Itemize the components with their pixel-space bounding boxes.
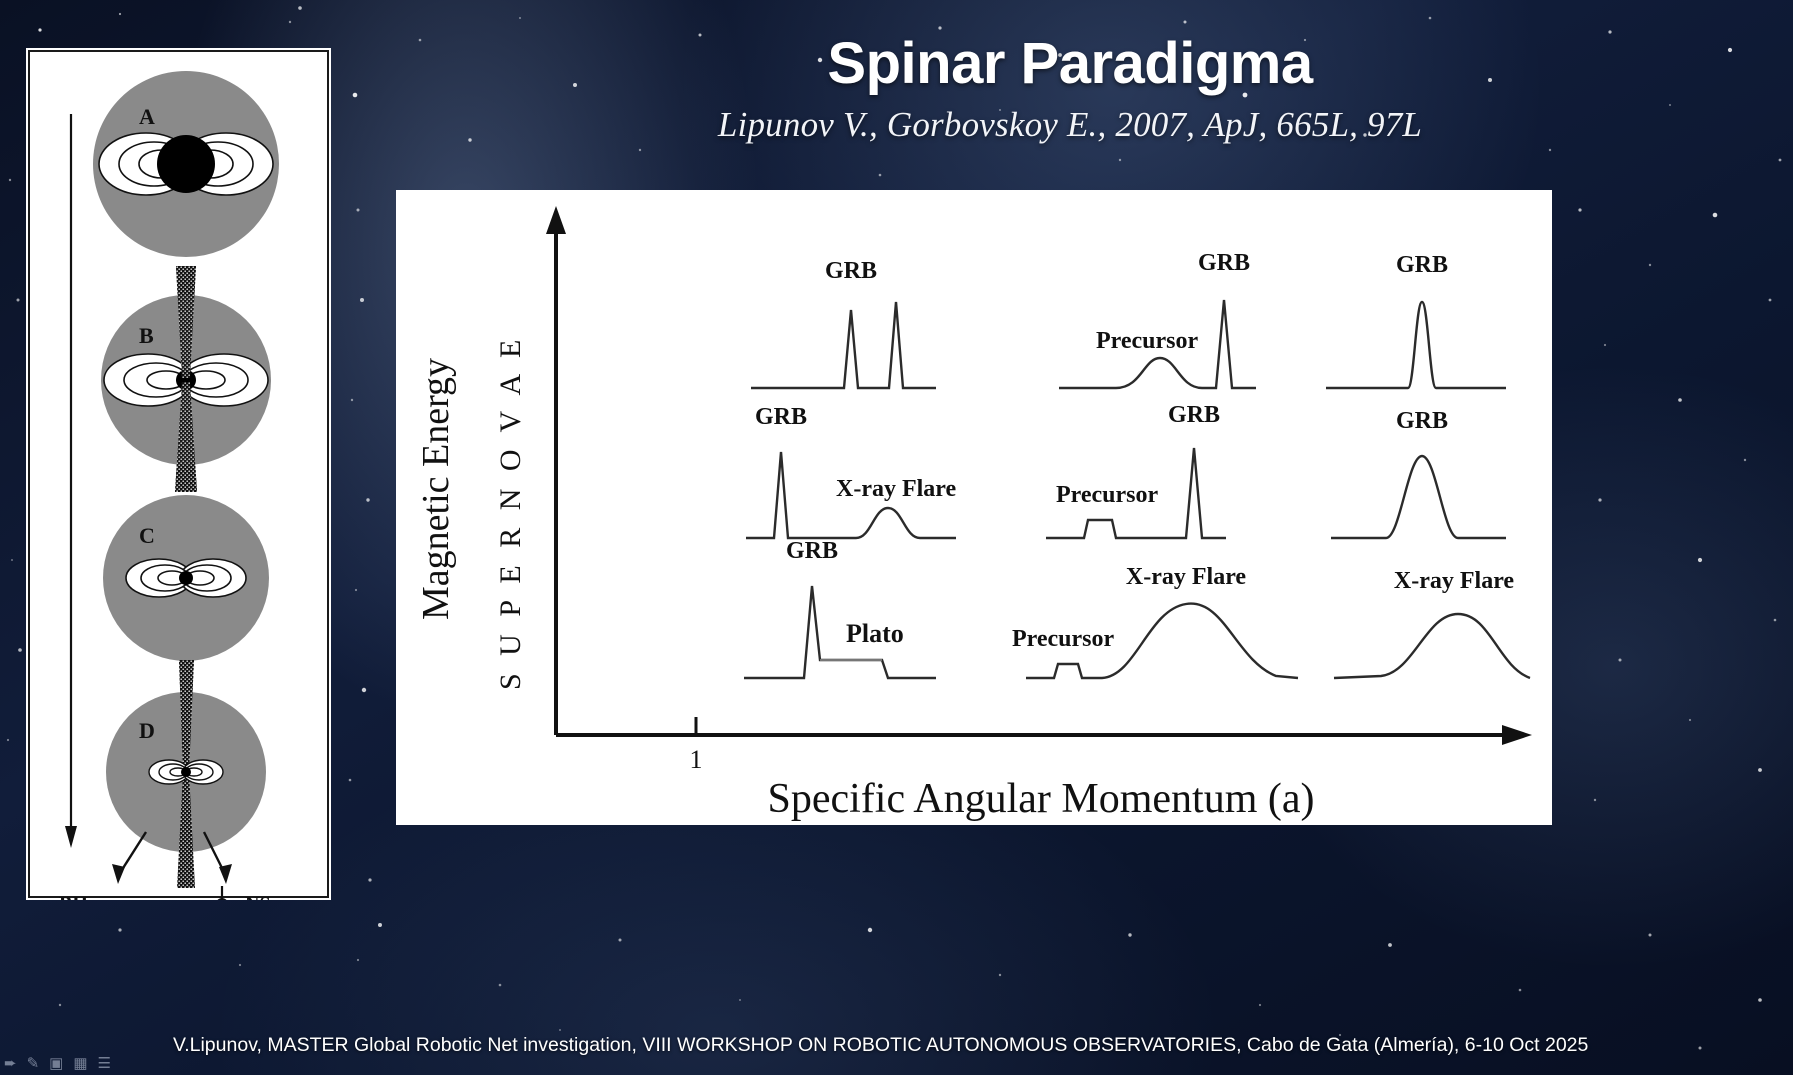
panel-r1c2-label-grb: GRB [1198, 250, 1250, 276]
xtick-1: 1 [690, 745, 703, 774]
panel-r3c3-label-xray-flare: X-ray Flare [1394, 568, 1515, 594]
slide-header: Spinar Paradigma Lipunov V., Gorbovskoy … [380, 34, 1760, 145]
svg-text:D: D [139, 718, 155, 743]
slides-icon[interactable]: ▦ [73, 1056, 87, 1071]
svg-text:B: B [139, 323, 154, 348]
stage-a: A [93, 71, 279, 257]
menu-icon[interactable]: ☰ [98, 1056, 111, 1071]
footer-citation: V.Lipunov, MASTER Global Robotic Net inv… [173, 1034, 1588, 1057]
pen-icon[interactable]: ✎ [27, 1056, 40, 1071]
slide-footer: V.Lipunov, MASTER Global Robotic Net inv… [0, 1029, 1793, 1075]
panel-r2c3-label-grb: GRB [1396, 408, 1448, 434]
panel-r2c2-label-precursor: Precursor [1056, 482, 1159, 508]
spinar-evolution-figure: A B [26, 48, 331, 900]
x-axis-label: Specific Angular Momentum (a) [767, 776, 1314, 822]
stage-c: C [103, 495, 269, 661]
y-axis-label: Magnetic Energy [415, 358, 457, 620]
slide-citation: Lipunov V., Gorbovskoy E., 2007, ApJ, 66… [380, 105, 1760, 145]
panel-r2c1-label-grb: GRB [755, 404, 807, 430]
panel-r1c1-label-grb: GRB [825, 258, 877, 284]
editor-tool-strip[interactable]: ➨ ✎ ▣ ▦ ☰ [4, 1056, 111, 1071]
panel-r1c2-label-precursor: Precursor [1096, 328, 1199, 354]
panel-r1c3-label-grb: GRB [1396, 252, 1448, 278]
panel-r2c1-label-xray-flare: X-ray Flare [836, 476, 957, 502]
panel-icon[interactable]: ▣ [49, 1056, 63, 1071]
page-title: Spinar Paradigma [380, 34, 1760, 95]
svg-text:A: A [139, 104, 155, 129]
panel-r2c2-label-grb: GRB [1168, 402, 1220, 428]
grb-phase-diagram: 1 Magnetic Energy S U P E R N O V A E Sp… [396, 190, 1552, 825]
panel-r3c1-label-grb: GRB [786, 538, 838, 564]
panel-r3c1-label-plato: Plato [846, 619, 904, 648]
panel-r3c2-label-precursor: Precursor [1012, 626, 1115, 652]
cursor-icon[interactable]: ➨ [4, 1056, 17, 1071]
svg-text:C: C [139, 523, 155, 548]
supernovae-band-label: S U P E R N O V A E [494, 335, 527, 690]
panel-r3c2-label-xray-flare: X-ray Flare [1126, 564, 1247, 590]
